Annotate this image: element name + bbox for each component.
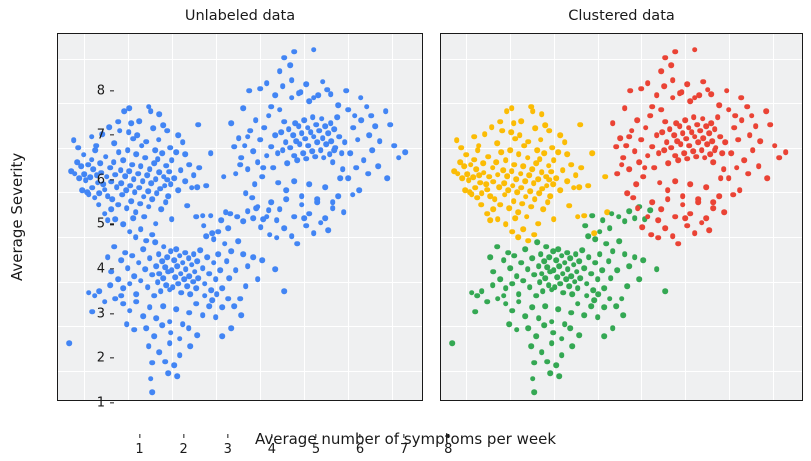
y-tick-mark xyxy=(110,268,114,269)
scatter-point xyxy=(520,164,526,170)
scatter-point xyxy=(721,166,727,172)
scatter-point xyxy=(682,215,688,221)
scatter-point xyxy=(676,241,682,247)
scatter-point xyxy=(202,281,208,287)
scatter-point xyxy=(471,134,477,140)
scatter-point xyxy=(625,190,631,196)
scatter-point xyxy=(202,293,208,299)
scatter-point xyxy=(176,281,182,287)
scatter-point xyxy=(595,314,601,320)
scatter-point xyxy=(303,82,309,88)
scatter-point xyxy=(507,147,513,153)
scatter-point xyxy=(450,340,456,346)
scatter-point xyxy=(387,122,393,128)
scatter-point xyxy=(187,310,193,316)
scatter-point xyxy=(569,162,575,168)
scatter-point xyxy=(76,175,82,181)
scatter-point xyxy=(590,213,596,219)
scatter-point xyxy=(746,171,752,177)
scatter-point xyxy=(182,178,188,184)
scatter-point xyxy=(473,166,479,172)
scatter-point xyxy=(553,257,559,263)
scatter-point xyxy=(138,278,144,284)
scatter-point xyxy=(292,178,298,184)
scatter-point xyxy=(547,254,553,260)
scatter-point xyxy=(151,293,157,299)
scatter-point xyxy=(647,113,653,119)
scatter-point xyxy=(285,161,291,167)
scatter-point xyxy=(488,217,494,223)
scatter-point xyxy=(187,343,193,349)
scatter-point xyxy=(295,241,301,247)
scatter-point xyxy=(281,55,287,61)
scatter-point xyxy=(469,191,475,197)
scatter-point xyxy=(128,198,134,204)
scatter-point xyxy=(127,106,133,112)
scatter-point xyxy=(303,156,309,162)
scatter-point xyxy=(470,174,476,180)
scatter-point xyxy=(733,113,739,119)
scatter-point xyxy=(530,376,536,382)
scatter-point xyxy=(240,106,246,112)
scatter-point xyxy=(153,176,159,182)
scatter-point xyxy=(186,326,192,332)
scatter-point xyxy=(537,157,543,163)
scatter-point xyxy=(226,275,232,281)
scatter-point xyxy=(643,125,649,131)
scatter-point xyxy=(193,301,199,307)
panel-unlabeled: Unlabeled data 12345678 12345678 xyxy=(57,33,423,401)
scatter-point xyxy=(739,117,745,123)
scatter-point xyxy=(694,122,700,128)
scatter-point xyxy=(225,225,231,231)
scatter-point xyxy=(608,275,614,281)
scatter-point xyxy=(495,172,501,178)
scatter-point xyxy=(165,254,171,260)
scatter-point xyxy=(138,226,144,232)
scatter-point xyxy=(259,174,265,180)
scatter-point xyxy=(576,184,582,190)
scatter-point xyxy=(505,173,511,179)
scatter-point xyxy=(548,169,554,175)
scatter-point xyxy=(516,291,522,297)
scatter-point xyxy=(756,164,762,170)
scatter-point xyxy=(749,113,755,119)
scatter-point xyxy=(328,120,334,126)
scatter-point xyxy=(626,263,632,269)
scatter-point xyxy=(547,128,553,134)
scatter-point xyxy=(145,189,151,195)
scatter-point xyxy=(542,275,548,281)
scatter-point xyxy=(508,129,514,135)
scatter-point xyxy=(738,95,744,101)
scatter-point xyxy=(541,322,547,328)
scatter-point xyxy=(610,326,616,332)
scatter-point xyxy=(541,150,547,156)
scatter-point xyxy=(149,389,155,395)
scatter-point xyxy=(711,205,717,211)
scatter-point xyxy=(128,120,134,126)
scatter-point xyxy=(540,289,546,295)
scatter-point xyxy=(131,327,137,333)
scatter-point xyxy=(220,305,226,311)
scatter-point xyxy=(145,284,151,290)
scatter-point xyxy=(531,360,537,366)
scatter-point xyxy=(339,150,345,156)
scatter-point xyxy=(601,305,607,311)
scatter-point xyxy=(538,251,544,257)
scatter-point xyxy=(645,153,651,159)
scatter-point xyxy=(330,199,336,205)
scatter-point xyxy=(519,185,525,191)
scatter-point xyxy=(149,272,155,278)
scatter-point xyxy=(359,117,365,123)
scatter-point xyxy=(119,181,125,187)
scatter-point xyxy=(330,205,336,211)
scatter-point xyxy=(131,176,137,182)
scatter-point xyxy=(138,164,144,170)
scatter-point xyxy=(524,214,530,220)
scatter-point xyxy=(195,275,201,281)
scatter-point xyxy=(351,125,357,131)
scatter-point xyxy=(317,128,323,134)
scatter-point xyxy=(177,352,183,358)
scatter-point xyxy=(541,259,547,265)
scatter-point xyxy=(569,291,575,297)
scatter-point xyxy=(403,149,409,155)
scatter-point xyxy=(220,333,226,339)
scatter-point xyxy=(560,167,566,173)
scatter-point xyxy=(490,165,496,171)
scatter-point xyxy=(512,162,518,168)
scatter-point xyxy=(318,220,324,226)
scatter-point xyxy=(590,150,596,156)
scatter-point xyxy=(609,211,615,217)
scatter-point xyxy=(251,254,257,260)
scatter-point xyxy=(167,319,173,325)
scatter-point xyxy=(203,183,209,189)
scatter-point xyxy=(161,244,167,250)
scatter-point xyxy=(493,159,499,165)
scatter-point xyxy=(200,213,206,219)
scatter-point xyxy=(173,247,179,253)
scatter-point xyxy=(687,182,693,188)
figure-canvas: Unlabeled data 12345678 12345678 Cluster… xyxy=(0,0,811,461)
scatter-point xyxy=(699,220,705,226)
scatter-point xyxy=(124,321,130,327)
scatter-point xyxy=(632,215,638,221)
scatter-point xyxy=(677,91,683,97)
scatter-point xyxy=(211,260,217,266)
scatter-point xyxy=(312,154,318,160)
scatter-point xyxy=(601,285,607,291)
scatter-point xyxy=(519,118,525,124)
scatter-point xyxy=(558,132,564,138)
scatter-point xyxy=(692,231,698,237)
scatter-point xyxy=(641,174,647,180)
scatter-point xyxy=(610,248,616,254)
scatter-point xyxy=(340,166,346,172)
scatter-point xyxy=(692,95,698,101)
scatter-point xyxy=(500,167,506,173)
scatter-point xyxy=(566,283,572,289)
scatter-point xyxy=(276,180,282,186)
scatter-point xyxy=(259,257,265,263)
scatter-point xyxy=(658,68,664,74)
scatter-point xyxy=(150,197,156,203)
scatter-point xyxy=(152,147,158,153)
scatter-point xyxy=(169,157,175,163)
scatter-point xyxy=(174,263,180,269)
scatter-point xyxy=(169,216,175,222)
scatter-point xyxy=(498,277,504,283)
scatter-point xyxy=(485,154,491,160)
scatter-point xyxy=(498,119,504,125)
scatter-point xyxy=(240,219,246,225)
scatter-point xyxy=(245,166,251,172)
scatter-point xyxy=(506,321,512,327)
scatter-point xyxy=(267,232,273,238)
scatter-point xyxy=(764,175,770,181)
scatter-point xyxy=(485,299,491,305)
scatter-point xyxy=(234,214,240,220)
scatter-point xyxy=(118,293,124,299)
scatter-point xyxy=(506,206,512,212)
scatter-point xyxy=(167,340,173,346)
scatter-point xyxy=(645,80,651,86)
scatter-point xyxy=(247,128,253,134)
scatter-point xyxy=(280,147,286,153)
scatter-point xyxy=(665,196,671,202)
scatter-point xyxy=(534,293,540,299)
scatter-point xyxy=(715,115,721,121)
scatter-point xyxy=(215,229,221,235)
scatter-point xyxy=(195,184,201,190)
scatter-point xyxy=(147,256,153,262)
scatter-point xyxy=(652,165,658,171)
scatter-point xyxy=(193,214,199,220)
scatter-point xyxy=(134,152,140,158)
scatter-point xyxy=(516,152,522,158)
scatter-point xyxy=(667,126,673,132)
scatter-point xyxy=(536,315,542,321)
y-tick-mark xyxy=(110,90,114,91)
scatter-point xyxy=(337,134,343,140)
scatter-point xyxy=(549,340,555,346)
scatter-point xyxy=(569,310,575,316)
scatter-point xyxy=(716,103,722,109)
scatter-point xyxy=(695,199,701,205)
scatter-point xyxy=(684,82,690,88)
scatter-point xyxy=(722,140,728,146)
scatter-point xyxy=(475,293,481,299)
scatter-point xyxy=(507,265,513,271)
scatter-point xyxy=(120,285,126,291)
scatter-point xyxy=(757,138,763,144)
scatter-point xyxy=(314,199,320,205)
scatter-point xyxy=(184,203,190,209)
scatter-point xyxy=(189,262,195,268)
scatter-point xyxy=(206,303,212,309)
scatter-point xyxy=(321,155,327,161)
scatter-point xyxy=(564,250,570,256)
scatter-point xyxy=(728,150,734,156)
scatter-point xyxy=(384,175,390,181)
scatter-point xyxy=(718,175,724,181)
scatter-point xyxy=(206,271,212,277)
scatter-point xyxy=(274,217,280,223)
scatter-point xyxy=(367,132,373,138)
scatter-point xyxy=(730,192,736,198)
scatter-point xyxy=(311,134,317,140)
scatter-point xyxy=(607,296,613,302)
scatter-point xyxy=(544,183,550,189)
scatter-point xyxy=(737,187,743,193)
scatter-point xyxy=(698,128,704,134)
scatter-point xyxy=(200,312,206,318)
scatter-point xyxy=(516,299,522,305)
scatter-point xyxy=(712,147,718,153)
scatter-point xyxy=(709,138,715,144)
scatter-point xyxy=(556,373,562,379)
scatter-point xyxy=(673,214,679,220)
scatter-point xyxy=(535,221,541,227)
scatter-point xyxy=(569,343,575,349)
scatter-point xyxy=(264,80,270,86)
scatter-point xyxy=(286,126,292,132)
scatter-point xyxy=(549,145,555,151)
scatter-point xyxy=(494,244,500,250)
scatter-point xyxy=(529,256,535,262)
panel-title-clustered: Clustered data xyxy=(440,8,803,24)
gridline-vertical xyxy=(128,34,129,400)
scatter-point xyxy=(724,88,730,94)
scatter-point xyxy=(261,165,267,171)
scatter-point xyxy=(593,236,599,242)
scatter-point xyxy=(133,210,139,216)
scatter-point xyxy=(299,193,305,199)
scatter-point xyxy=(355,137,361,143)
scatter-point xyxy=(129,253,135,259)
scatter-point xyxy=(528,104,534,110)
scatter-point xyxy=(182,250,188,256)
y-tick-mark xyxy=(110,402,114,403)
scatter-point xyxy=(251,149,257,155)
scatter-point xyxy=(695,140,701,146)
scatter-point xyxy=(165,370,171,376)
scatter-point xyxy=(699,147,705,153)
scatter-point xyxy=(491,269,497,275)
scatter-point xyxy=(289,77,295,83)
scatter-point xyxy=(273,266,279,272)
scatter-point xyxy=(701,79,707,85)
scatter-point xyxy=(534,240,540,246)
scatter-point xyxy=(268,144,274,150)
scatter-point xyxy=(301,117,307,123)
scatter-point xyxy=(235,239,241,245)
y-tick-label: 8 xyxy=(97,83,105,98)
scatter-point xyxy=(501,181,507,187)
scatter-point xyxy=(678,141,684,147)
scatter-point xyxy=(639,224,645,230)
scatter-point xyxy=(140,247,146,253)
scatter-point xyxy=(595,277,601,283)
scatter-point xyxy=(480,161,486,167)
scatter-point xyxy=(532,197,538,203)
scatter-point xyxy=(632,254,638,260)
scatter-point xyxy=(472,185,478,191)
scatter-point xyxy=(551,157,557,163)
scatter-point xyxy=(783,149,789,155)
scatter-point xyxy=(292,214,298,220)
scatter-point xyxy=(636,159,642,165)
gridline-horizontal xyxy=(58,59,422,60)
scatter-point xyxy=(296,124,302,130)
scatter-point xyxy=(485,211,491,217)
scatter-point xyxy=(289,95,295,101)
scatter-point xyxy=(491,179,497,185)
scatter-point xyxy=(246,88,252,94)
scatter-point xyxy=(548,370,554,376)
scatter-point xyxy=(163,199,169,205)
scatter-point xyxy=(337,175,343,181)
scatter-point xyxy=(356,187,362,193)
scatter-point xyxy=(125,147,131,153)
scatter-point xyxy=(127,229,133,235)
scatter-point xyxy=(488,254,494,260)
scatter-point xyxy=(665,187,671,193)
scatter-point xyxy=(229,248,235,254)
scatter-point xyxy=(310,115,316,121)
scatter-point xyxy=(509,308,515,314)
scatter-point xyxy=(330,159,336,165)
scatter-point xyxy=(328,91,334,97)
scatter-point xyxy=(510,183,516,189)
gridline-horizontal xyxy=(441,148,802,149)
scatter-point xyxy=(134,291,140,297)
scatter-point xyxy=(176,132,182,138)
scatter-point xyxy=(485,187,491,193)
scatter-point xyxy=(204,254,210,260)
scatter-point xyxy=(670,233,676,239)
gridline-vertical xyxy=(392,34,393,400)
scatter-point xyxy=(140,178,146,184)
scatter-point xyxy=(133,234,139,240)
scatter-point xyxy=(242,143,248,149)
scatter-point xyxy=(122,173,128,179)
scatter-point xyxy=(458,145,464,151)
scatter-point xyxy=(654,92,660,98)
scatter-point xyxy=(726,175,732,181)
scatter-point xyxy=(154,315,160,321)
scatter-point xyxy=(150,125,156,131)
scatter-point xyxy=(712,126,718,132)
scatter-point xyxy=(320,135,326,141)
scatter-point xyxy=(148,376,154,382)
scatter-point xyxy=(224,259,230,265)
scatter-point xyxy=(71,137,77,143)
scatter-point xyxy=(365,171,371,177)
scatter-point xyxy=(176,187,182,193)
scatter-point xyxy=(509,168,515,174)
scatter-point xyxy=(631,195,637,201)
scatter-point xyxy=(159,150,165,156)
scatter-point xyxy=(706,131,712,137)
scatter-point xyxy=(525,266,531,272)
scatter-point xyxy=(702,155,708,161)
scatter-point xyxy=(233,268,239,274)
scatter-point xyxy=(574,269,580,275)
